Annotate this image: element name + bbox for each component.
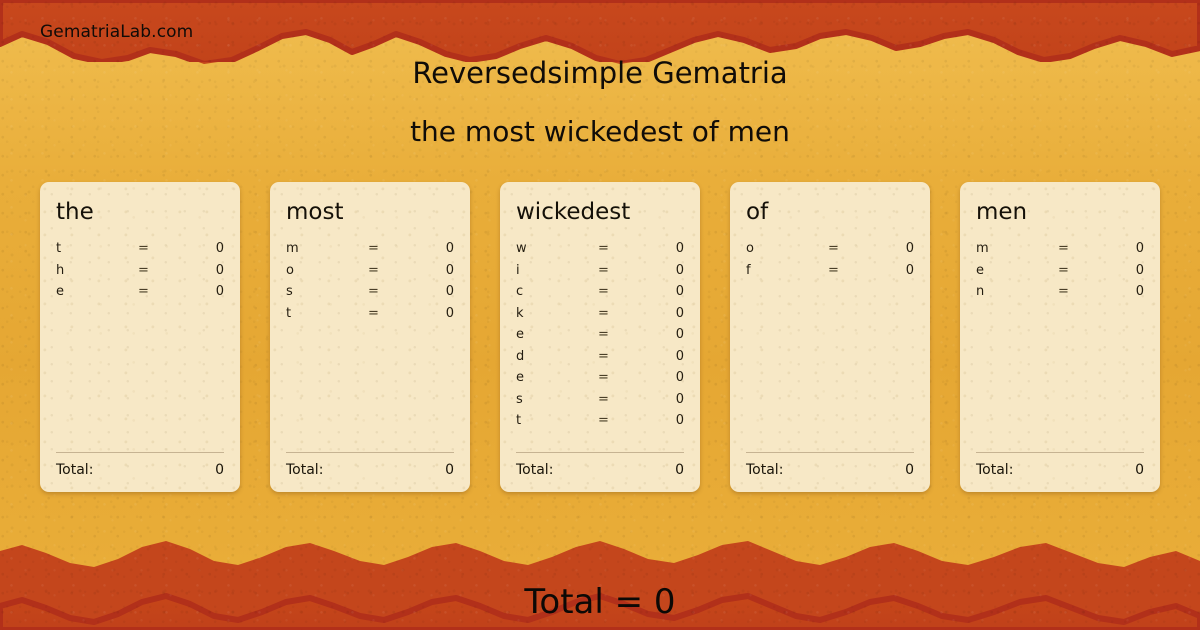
letter-value-list: o=0f=0 bbox=[746, 241, 914, 452]
equals-sign: = bbox=[828, 263, 868, 278]
equals-sign: = bbox=[598, 349, 638, 364]
letter-char: s bbox=[516, 392, 598, 407]
equals-sign: = bbox=[598, 370, 638, 385]
letter-row: t=0 bbox=[516, 413, 684, 435]
equals-sign: = bbox=[828, 241, 868, 256]
letter-char: s bbox=[286, 284, 368, 299]
equals-sign: = bbox=[368, 306, 408, 321]
card-total-value: 0 bbox=[215, 462, 224, 478]
card-divider bbox=[976, 452, 1144, 453]
equals-sign: = bbox=[1058, 284, 1098, 299]
card-total-label: Total: bbox=[56, 462, 215, 478]
word-card-row: thet=0h=0e=0Total:0mostm=0o=0s=0t=0Total… bbox=[40, 182, 1160, 492]
card-total-value: 0 bbox=[675, 462, 684, 478]
letter-char: m bbox=[286, 241, 368, 256]
card-divider bbox=[516, 452, 684, 453]
card-total-row: Total:0 bbox=[286, 462, 454, 478]
letter-char: e bbox=[516, 327, 598, 342]
header-block: Reversedsimple Gematria the most wickede… bbox=[0, 58, 1200, 148]
letter-char: n bbox=[976, 284, 1058, 299]
letter-row: t=0 bbox=[286, 306, 454, 328]
grand-total: Total = 0 bbox=[0, 582, 1200, 622]
letter-char: h bbox=[56, 263, 138, 278]
letter-value: 0 bbox=[1098, 263, 1144, 278]
card-total-label: Total: bbox=[976, 462, 1135, 478]
letter-value-list: t=0h=0e=0 bbox=[56, 241, 224, 452]
letter-value: 0 bbox=[178, 241, 224, 256]
card-word-title: wickedest bbox=[516, 200, 684, 225]
equals-sign: = bbox=[1058, 241, 1098, 256]
letter-char: m bbox=[976, 241, 1058, 256]
card-total-label: Total: bbox=[516, 462, 675, 478]
word-card[interactable]: mostm=0o=0s=0t=0Total:0 bbox=[270, 182, 470, 492]
letter-char: f bbox=[746, 263, 828, 278]
letter-char: t bbox=[286, 306, 368, 321]
letter-row: o=0 bbox=[286, 263, 454, 285]
equals-sign: = bbox=[598, 263, 638, 278]
letter-value: 0 bbox=[1098, 284, 1144, 299]
card-total-value: 0 bbox=[445, 462, 454, 478]
card-word-title: of bbox=[746, 200, 914, 225]
cipher-title: Reversedsimple Gematria bbox=[0, 58, 1200, 90]
letter-value: 0 bbox=[408, 284, 454, 299]
letter-char: o bbox=[746, 241, 828, 256]
letter-row: h=0 bbox=[56, 263, 224, 285]
letter-row: e=0 bbox=[976, 263, 1144, 285]
card-divider bbox=[746, 452, 914, 453]
letter-value: 0 bbox=[638, 370, 684, 385]
equals-sign: = bbox=[138, 284, 178, 299]
phrase-text: the most wickedest of men bbox=[0, 117, 1200, 148]
equals-sign: = bbox=[368, 241, 408, 256]
letter-row: s=0 bbox=[516, 392, 684, 414]
card-total-row: Total:0 bbox=[746, 462, 914, 478]
letter-char: i bbox=[516, 263, 598, 278]
card-total-label: Total: bbox=[286, 462, 445, 478]
letter-row: c=0 bbox=[516, 284, 684, 306]
letter-char: e bbox=[976, 263, 1058, 278]
letter-value: 0 bbox=[408, 306, 454, 321]
letter-char: c bbox=[516, 284, 598, 299]
card-word-title: the bbox=[56, 200, 224, 225]
equals-sign: = bbox=[138, 263, 178, 278]
letter-value: 0 bbox=[638, 349, 684, 364]
letter-value: 0 bbox=[178, 284, 224, 299]
card-divider bbox=[286, 452, 454, 453]
letter-char: o bbox=[286, 263, 368, 278]
letter-value: 0 bbox=[638, 392, 684, 407]
letter-value-list: m=0o=0s=0t=0 bbox=[286, 241, 454, 452]
equals-sign: = bbox=[598, 327, 638, 342]
letter-row: e=0 bbox=[56, 284, 224, 306]
letter-row: d=0 bbox=[516, 349, 684, 371]
word-card[interactable]: thet=0h=0e=0Total:0 bbox=[40, 182, 240, 492]
letter-value: 0 bbox=[638, 284, 684, 299]
card-word-title: most bbox=[286, 200, 454, 225]
card-total-label: Total: bbox=[746, 462, 905, 478]
card-divider bbox=[56, 452, 224, 453]
letter-row: o=0 bbox=[746, 241, 914, 263]
letter-row: e=0 bbox=[516, 370, 684, 392]
letter-row: k=0 bbox=[516, 306, 684, 328]
letter-row: w=0 bbox=[516, 241, 684, 263]
equals-sign: = bbox=[138, 241, 178, 256]
letter-value: 0 bbox=[638, 241, 684, 256]
equals-sign: = bbox=[1058, 263, 1098, 278]
letter-value: 0 bbox=[408, 263, 454, 278]
card-total-value: 0 bbox=[905, 462, 914, 478]
letter-value: 0 bbox=[638, 306, 684, 321]
letter-row: i=0 bbox=[516, 263, 684, 285]
letter-row: e=0 bbox=[516, 327, 684, 349]
equals-sign: = bbox=[598, 413, 638, 428]
card-total-value: 0 bbox=[1135, 462, 1144, 478]
letter-char: t bbox=[56, 241, 138, 256]
letter-row: n=0 bbox=[976, 284, 1144, 306]
letter-value: 0 bbox=[408, 241, 454, 256]
letter-value-list: m=0e=0n=0 bbox=[976, 241, 1144, 452]
letter-char: t bbox=[516, 413, 598, 428]
letter-char: k bbox=[516, 306, 598, 321]
card-total-row: Total:0 bbox=[56, 462, 224, 478]
equals-sign: = bbox=[598, 306, 638, 321]
letter-row: f=0 bbox=[746, 263, 914, 285]
letter-row: m=0 bbox=[976, 241, 1144, 263]
word-card[interactable]: ofo=0f=0Total:0 bbox=[730, 182, 930, 492]
letter-char: e bbox=[56, 284, 138, 299]
equals-sign: = bbox=[598, 241, 638, 256]
letter-char: d bbox=[516, 349, 598, 364]
letter-row: s=0 bbox=[286, 284, 454, 306]
equals-sign: = bbox=[368, 284, 408, 299]
card-word-title: men bbox=[976, 200, 1144, 225]
card-total-row: Total:0 bbox=[976, 462, 1144, 478]
letter-value: 0 bbox=[868, 241, 914, 256]
letter-value: 0 bbox=[638, 263, 684, 278]
word-card[interactable]: menm=0e=0n=0Total:0 bbox=[960, 182, 1160, 492]
equals-sign: = bbox=[598, 284, 638, 299]
word-card[interactable]: wickedestw=0i=0c=0k=0e=0d=0e=0s=0t=0Tota… bbox=[500, 182, 700, 492]
letter-value: 0 bbox=[178, 263, 224, 278]
letter-row: t=0 bbox=[56, 241, 224, 263]
card-total-row: Total:0 bbox=[516, 462, 684, 478]
site-logo[interactable]: GematriaLab.com bbox=[40, 22, 193, 42]
equals-sign: = bbox=[598, 392, 638, 407]
letter-value: 0 bbox=[638, 327, 684, 342]
letter-value: 0 bbox=[1098, 241, 1144, 256]
letter-row: m=0 bbox=[286, 241, 454, 263]
equals-sign: = bbox=[368, 263, 408, 278]
letter-value-list: w=0i=0c=0k=0e=0d=0e=0s=0t=0 bbox=[516, 241, 684, 452]
letter-char: e bbox=[516, 370, 598, 385]
letter-value: 0 bbox=[868, 263, 914, 278]
letter-char: w bbox=[516, 241, 598, 256]
letter-value: 0 bbox=[638, 413, 684, 428]
